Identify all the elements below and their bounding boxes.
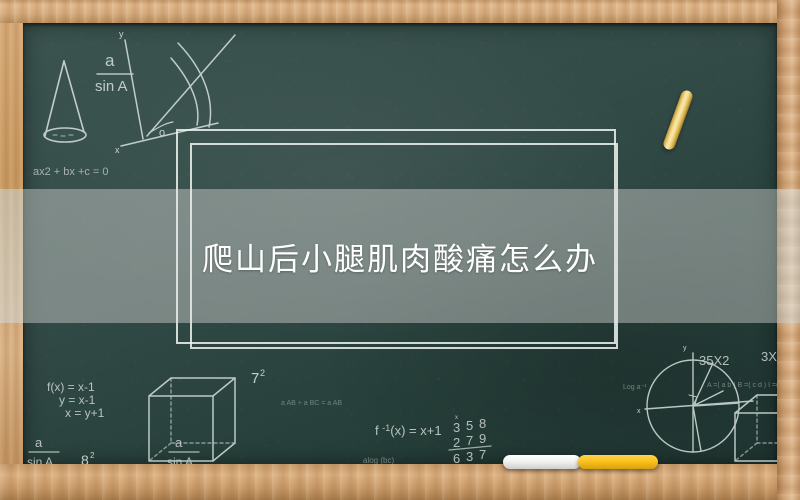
frame-top-rail	[0, 0, 800, 23]
svg-text:a: a	[105, 51, 115, 70]
svg-text:y: y	[119, 29, 124, 39]
expr-3x2: 3X2	[761, 349, 777, 364]
svg-text:x: x	[637, 408, 641, 415]
chalk-stick-yellow-tray[interactable]	[578, 455, 658, 469]
svg-text:y = x-1: y = x-1	[59, 393, 96, 407]
fraction-a-sin-a-bl1: a sin A	[27, 435, 59, 464]
frame-bottom-rail	[0, 464, 800, 500]
svg-text:9: 9	[479, 431, 486, 446]
svg-text:x = y+1: x = y+1	[65, 406, 105, 420]
svg-text:2: 2	[260, 368, 265, 378]
svg-text:y: y	[683, 345, 687, 352]
svg-text:o: o	[159, 127, 165, 139]
svg-text:2: 2	[90, 451, 95, 460]
svg-text:7: 7	[479, 447, 486, 462]
chalkboard-banner: a sin A y x o	[0, 0, 800, 500]
svg-text:sin A: sin A	[27, 455, 53, 464]
svg-text:6: 6	[453, 451, 460, 464]
svg-text:sin A: sin A	[95, 78, 128, 95]
fraction-a-sin-a-top: a sin A	[95, 51, 133, 95]
fraction-a-sin-a-bl2: a sin A	[167, 435, 199, 464]
function-equations: f(x) = x-1 y = x-1 x = y+1	[47, 380, 105, 420]
cube-sketch-left	[149, 378, 235, 461]
svg-text:a: a	[35, 435, 43, 450]
svg-text:8: 8	[479, 416, 486, 431]
number-matrix: x 3 5 8 2 7 9 6 3 7	[453, 415, 486, 464]
expr-35x2: 35X2	[699, 353, 729, 368]
page-title: 爬山后小腿肌肉酸痛怎么办	[0, 189, 800, 323]
log-a-label: Log a⁻¹	[623, 384, 647, 391]
inverse-function: f -1(x) = x+1	[375, 423, 442, 438]
quadratic-equation: ax2 + bx +c = 0	[33, 166, 109, 178]
svg-text:3: 3	[466, 449, 473, 464]
svg-text:5: 5	[466, 418, 473, 433]
svg-text:7: 7	[466, 433, 473, 448]
cone-sketch	[44, 61, 86, 142]
svg-text:sin A: sin A	[167, 455, 193, 464]
svg-text:3: 3	[453, 420, 460, 435]
cube-sketch-right	[735, 395, 777, 461]
svg-text:x: x	[115, 145, 120, 155]
seven-squared: 7 2	[251, 368, 265, 387]
faint-vector-expression: a AB + a BC = a AB	[281, 400, 342, 407]
svg-text:a: a	[175, 435, 183, 450]
svg-text:7: 7	[251, 370, 259, 387]
matrix-notation-row: A =( a b ) B =( c d ) I =( 1 0 )	[707, 382, 777, 389]
chalk-stick-white-tray[interactable]	[503, 455, 581, 469]
svg-text:2: 2	[453, 435, 460, 450]
svg-text:f(x) = x-1: f(x) = x-1	[47, 380, 95, 394]
svg-text:8: 8	[81, 452, 89, 464]
eight-squared: 8 2	[81, 451, 95, 464]
alog-bc: alog (bc)	[363, 456, 394, 464]
